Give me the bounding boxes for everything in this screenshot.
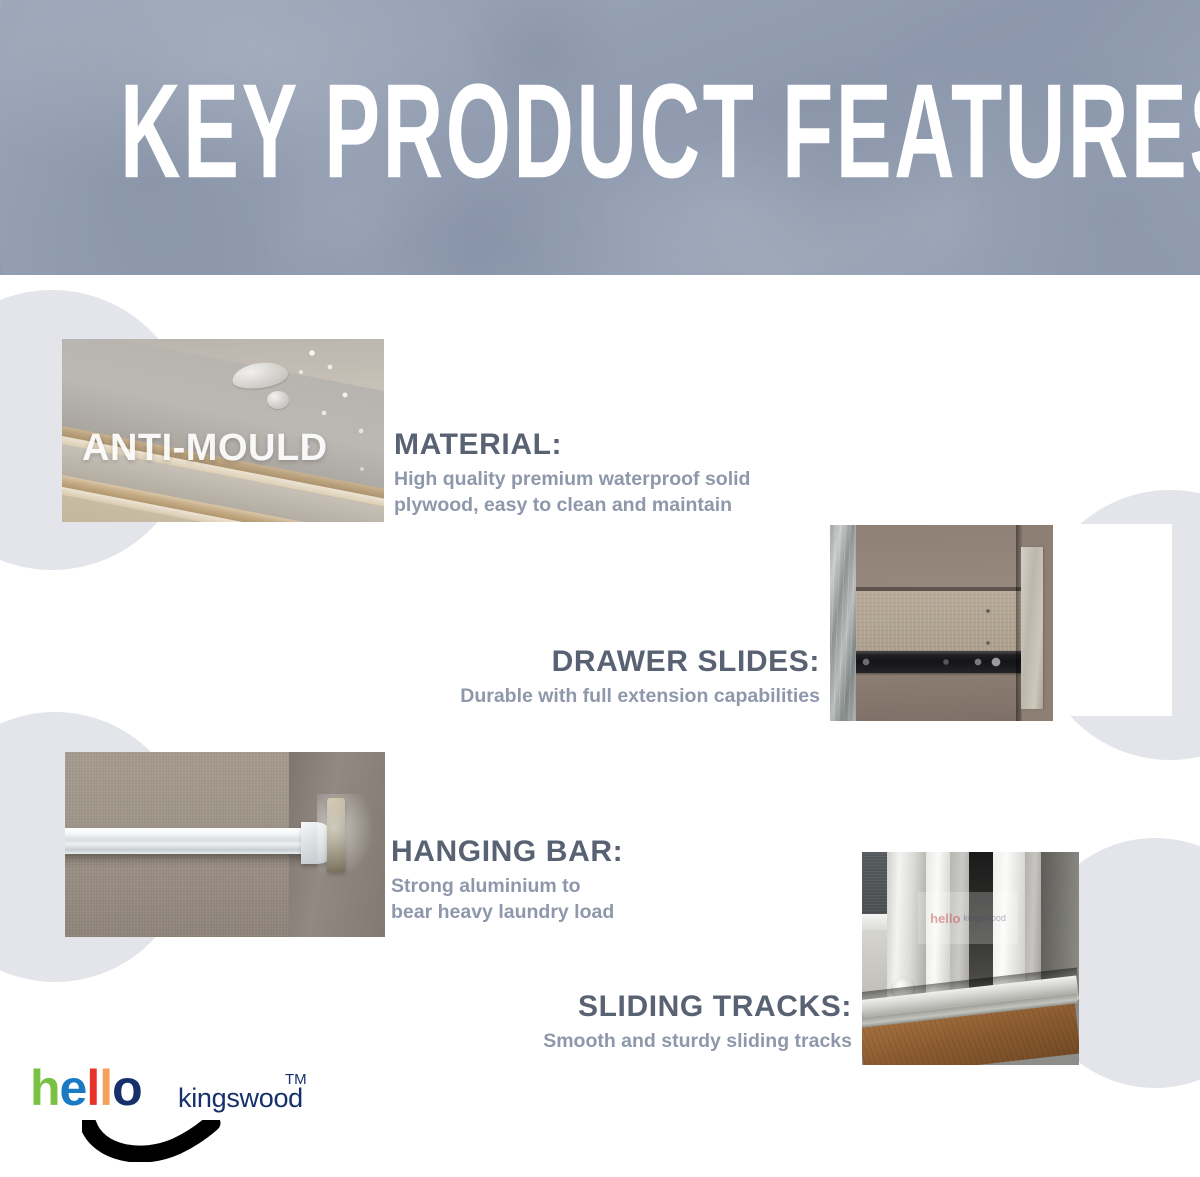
wardrobe-side-panel [830, 525, 856, 721]
hanging-bar-shadow [65, 852, 317, 868]
feature-description-sliding-tracks-line1: Smooth and sturdy sliding tracks [0, 1029, 852, 1055]
feature-image-drawer-slides [830, 525, 1053, 721]
logo-letter-h: h [30, 1060, 60, 1116]
feature-description-hanging-bar-line2: bear heavy laundry load [391, 900, 623, 926]
feature-description-material-line1: High quality premium waterproof solid [394, 467, 750, 493]
feature-title-material: MATERIAL: [394, 428, 750, 462]
watermark-hello-text: hello [930, 911, 960, 926]
drawer-screw-holes [980, 605, 1020, 675]
feature-text-sliding-tracks: SLIDING TRACKS: Smooth and sturdy slidin… [0, 990, 852, 1055]
watermark-kingswood-text: kingswood [963, 913, 1006, 923]
feature-title-hanging-bar: HANGING BAR: [391, 835, 623, 869]
feature-image-hanging-bar [65, 752, 385, 937]
feature-title-sliding-tracks: SLIDING TRACKS: [0, 990, 852, 1024]
feature-image-material: ANTI-MOULD [62, 339, 384, 522]
feature-description-drawer-slides: Durable with full extension capabilities [0, 684, 820, 710]
logo-letter-l2: l [99, 1060, 112, 1116]
header-banner: KEY PRODUCT FEATURES [0, 0, 1200, 275]
drawer-front-upper [856, 525, 1021, 587]
logo-wordmark: hello [30, 1063, 142, 1113]
feature-description-hanging-bar: Strong aluminium to bear heavy laundry l… [391, 874, 623, 926]
feature-description-sliding-tracks: Smooth and sturdy sliding tracks [0, 1029, 852, 1055]
smile-icon [82, 1120, 222, 1162]
drawer-front-lower [856, 673, 1021, 721]
feature-title-drawer-slides: DRAWER SLIDES: [0, 645, 820, 679]
feature-description-material: High quality premium waterproof solid pl… [394, 467, 750, 519]
logo-trademark: TM [285, 1071, 307, 1088]
decorative-white-mask [1046, 524, 1172, 716]
feature-image-sliding-tracks: hello kingswood [862, 852, 1079, 1065]
feature-description-drawer-slides-line1: Durable with full extension capabilities [0, 684, 820, 710]
infographic-page: KEY PRODUCT FEATURES ANTI-MOULD MATERIAL… [0, 0, 1200, 1177]
logo-letter-o: o [112, 1060, 142, 1116]
logo-letter-e: e [60, 1060, 87, 1116]
feature-text-material: MATERIAL: High quality premium waterproo… [394, 428, 750, 518]
drawer-side-board [1021, 547, 1043, 709]
hanging-bar-highlight [317, 794, 375, 880]
feature-description-material-line2: plywood, easy to clean and maintain [394, 493, 750, 519]
aluminium-hanging-bar [65, 828, 313, 854]
feature-text-drawer-slides: DRAWER SLIDES: Durable with full extensi… [0, 645, 820, 710]
image-watermark: hello kingswood [918, 892, 1018, 944]
feature-text-hanging-bar: HANGING BAR: Strong aluminium to bear he… [391, 835, 623, 925]
logo-letter-l1: l [86, 1060, 99, 1116]
feature-description-hanging-bar-line1: Strong aluminium to [391, 874, 623, 900]
page-title: KEY PRODUCT FEATURES [120, 62, 1080, 203]
anti-mould-label: ANTI-MOULD [82, 427, 328, 470]
brand-logo[interactable]: hello kingswood TM [30, 1063, 310, 1158]
